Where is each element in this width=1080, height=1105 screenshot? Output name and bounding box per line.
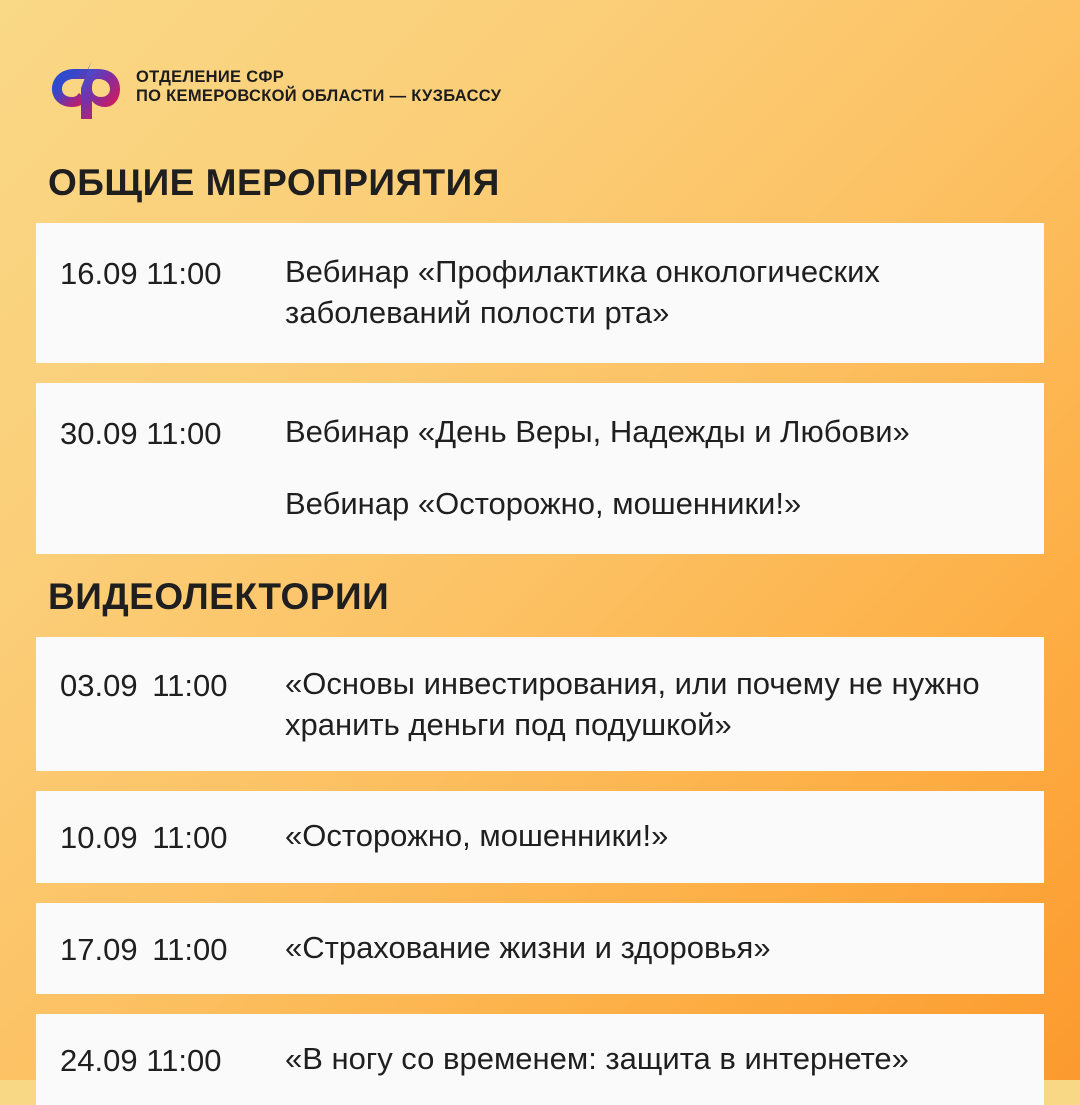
row-date: 16.09	[60, 256, 138, 291]
schedule-row: 17.09 11:00 «Страхование жизни и здоровь…	[36, 903, 1044, 994]
row-events: Вебинар «Профилактика онкологических заб…	[285, 251, 1020, 333]
row-events: «В ногу со временем: защита в интернете»	[285, 1038, 1020, 1079]
schedule-row: 24.09 11:00 «В ногу со временем: защита …	[36, 1014, 1044, 1105]
row-datetime: 10.09 11:00	[60, 815, 285, 858]
row-datetime: 30.09 11:00	[60, 411, 285, 454]
event-title: «В ногу со временем: защита в интернете»	[285, 1038, 1020, 1079]
row-date: 30.09	[60, 416, 138, 451]
row-date: 10.09	[60, 820, 138, 855]
section-rows-video: 03.09 11:00 «Основы инвестирования, или …	[36, 637, 1044, 1105]
event-title: Вебинар «Профилактика онкологических заб…	[285, 251, 1020, 333]
row-time: 11:00	[146, 256, 221, 291]
event-title: «Основы инвестирования, или почему не ну…	[285, 663, 1020, 745]
schedule-row: 03.09 11:00 «Основы инвестирования, или …	[36, 637, 1044, 771]
row-datetime: 16.09 11:00	[60, 251, 285, 294]
brand-text: ОТДЕЛЕНИЕ СФР ПО КЕМЕРОВСКОЙ ОБЛАСТИ — К…	[136, 68, 501, 106]
section-heading-video: ВИДЕОЛЕКТОРИИ	[36, 578, 1044, 615]
row-events: «Основы инвестирования, или почему не ну…	[285, 663, 1020, 745]
row-events: «Страхование жизни и здоровья»	[285, 927, 1020, 968]
event-schedule-poster: ОТДЕЛЕНИЕ СФР ПО КЕМЕРОВСКОЙ ОБЛАСТИ — К…	[0, 0, 1080, 1080]
brand-line-1: ОТДЕЛЕНИЕ СФР	[136, 68, 501, 87]
schedule-row: 10.09 11:00 «Осторожно, мошенники!»	[36, 791, 1044, 882]
row-time: 11:00	[146, 416, 221, 451]
event-title: Вебинар «День Веры, Надежды и Любови»	[285, 411, 1020, 452]
row-datetime: 17.09 11:00	[60, 927, 285, 970]
event-title: «Осторожно, мошенники!»	[285, 815, 1020, 856]
row-date: 03.09	[60, 668, 138, 703]
row-time: 11:00	[152, 668, 227, 703]
event-title: «Страхование жизни и здоровья»	[285, 927, 1020, 968]
row-time: 11:00	[152, 820, 227, 855]
row-date: 24.09	[60, 1043, 138, 1078]
schedule-row: 30.09 11:00 Вебинар «День Веры, Надежды …	[36, 383, 1044, 553]
brand-header: ОТДЕЛЕНИЕ СФР ПО КЕМЕРОВСКОЙ ОБЛАСТИ — К…	[36, 52, 1044, 122]
sfr-monogram-logo-icon	[48, 52, 122, 122]
brand-line-2: ПО КЕМЕРОВСКОЙ ОБЛАСТИ — КУЗБАССУ	[136, 87, 501, 106]
row-datetime: 24.09 11:00	[60, 1038, 285, 1081]
event-title: Вебинар «Осторожно, мошенники!»	[285, 483, 1020, 524]
section-rows-general: 16.09 11:00 Вебинар «Профилактика онколо…	[36, 223, 1044, 554]
row-date: 17.09	[60, 932, 138, 967]
row-time: 11:00	[152, 932, 227, 967]
row-datetime: 03.09 11:00	[60, 663, 285, 706]
schedule-row: 16.09 11:00 Вебинар «Профилактика онколо…	[36, 223, 1044, 363]
row-events: «Осторожно, мошенники!»	[285, 815, 1020, 856]
row-events: Вебинар «День Веры, Надежды и Любови» Ве…	[285, 411, 1020, 523]
row-time: 11:00	[146, 1043, 221, 1078]
section-heading-general: ОБЩИЕ МЕРОПРИЯТИЯ	[36, 164, 1044, 201]
